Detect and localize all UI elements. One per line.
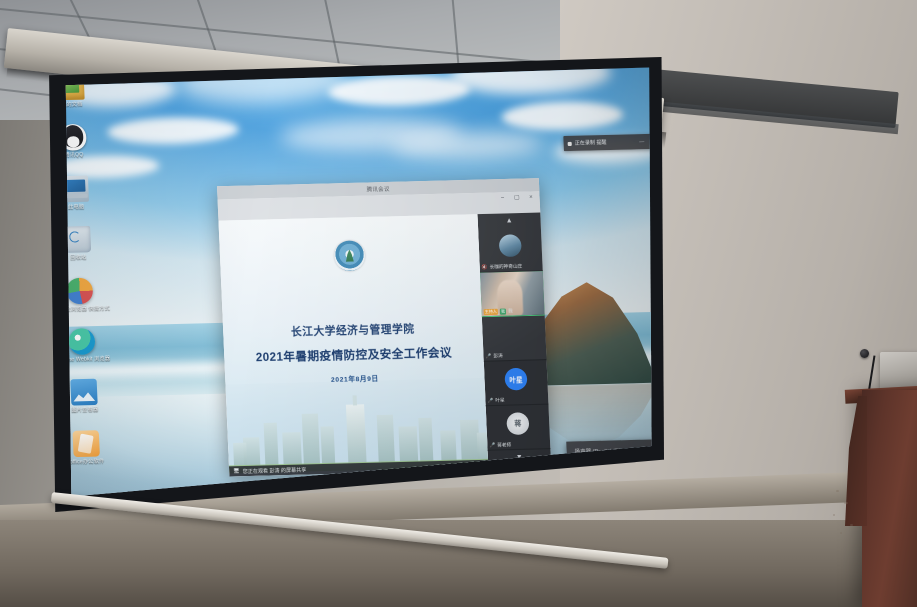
projection-screen: 我的文档 腾讯QQ 此电脑 回收站 <box>46 57 664 512</box>
projection-screen-surface: 我的文档 腾讯QQ 此电脑 回收站 <box>46 57 664 512</box>
cloud <box>107 116 240 146</box>
skyline-building <box>233 442 247 468</box>
windows-desktop: 我的文档 腾讯QQ 此电脑 回收站 <box>46 57 664 512</box>
tray-icon[interactable] <box>642 474 647 479</box>
maximize-button[interactable]: ▢ <box>513 195 520 202</box>
skyline-building <box>321 427 336 466</box>
host-badge: 主持人 <box>484 309 498 315</box>
participant-footer: 🎤 叶星 <box>485 396 548 404</box>
volume-value: 15 <box>662 462 664 469</box>
floor <box>0 520 917 607</box>
wall-mark <box>836 490 839 492</box>
screen-share-area: 长江大学经济与管理学院 2021年暑期疫情防控及安全工作会议 2021年8月9日… <box>218 214 488 476</box>
screen-share-icon: 🖥 <box>233 468 240 474</box>
pictures-icon <box>70 379 97 406</box>
gooseneck-microphone-icon <box>860 349 869 358</box>
close-button[interactable]: × <box>527 194 534 201</box>
notification-icon <box>568 141 572 145</box>
avatar: 叶星 <box>504 368 527 391</box>
tray-icon[interactable] <box>632 474 637 479</box>
skyline-building <box>282 432 302 466</box>
university-emblem-icon <box>334 240 366 271</box>
tray-icon[interactable] <box>612 475 617 480</box>
cloud <box>501 100 624 131</box>
avatar <box>499 234 522 257</box>
skyline-building <box>377 415 395 464</box>
wall-mark <box>844 502 848 504</box>
share-status-text: 您正在观看 彭涛 的屏幕共享 <box>243 466 307 475</box>
participant-tile-1[interactable]: 🔇 长咖的神奇山庄 <box>478 227 543 273</box>
podium <box>862 390 917 607</box>
avatar-initials: 叶星 <box>509 374 523 384</box>
skyline-building <box>398 426 418 464</box>
skyline-building <box>440 430 457 462</box>
participant-tile-4[interactable]: 叶星 🎤 叶星 <box>484 360 549 406</box>
tray-icon[interactable] <box>622 475 627 480</box>
conference-room-scene: 我的文档 腾讯QQ 此电脑 回收站 <box>0 0 917 607</box>
avatar-initials: 蒋 <box>514 418 522 428</box>
participant-name: 彭涛 <box>493 353 503 359</box>
cloud <box>175 57 349 105</box>
wall-mark <box>833 514 835 516</box>
meeting-body: 长江大学经济与管理学院 2021年暑期疫情防控及安全工作会议 2021年8月9日… <box>218 213 551 477</box>
browser-icon <box>68 328 95 355</box>
skyline-building <box>302 413 320 466</box>
participant-name: 我 <box>508 308 513 314</box>
window-title: 腾讯会议 <box>366 184 389 193</box>
participant-tile-2[interactable]: 主持人 我 我 <box>480 271 545 317</box>
system-tray-row <box>576 473 664 481</box>
wall-mark <box>840 532 842 534</box>
microphone-icon: 🎤 <box>485 353 491 359</box>
wall-mark <box>850 524 853 526</box>
wall-marks <box>830 480 870 540</box>
participants-panel: ▲ 🔇 长咖的神奇山庄 <box>478 213 552 470</box>
minimize-button[interactable]: − <box>499 195 506 202</box>
participant-name: 蒋老师 <box>497 442 511 448</box>
participant-name: 叶星 <box>495 398 505 404</box>
participant-tile-3[interactable]: 🎤 彭涛 <box>482 316 547 362</box>
microphone-icon: 🎤 <box>489 442 495 448</box>
multimedia-icon <box>66 277 93 304</box>
presentation-slide: 长江大学经济与管理学院 2021年暑期疫情防控及安全工作会议 2021年8月9日 <box>218 214 488 476</box>
skyline-building <box>263 423 278 467</box>
notification-title: 正在录制 提醒 <box>575 139 607 147</box>
participant-footer: 🔇 长咖的神奇山庄 <box>480 263 543 271</box>
volume-slider-fill <box>589 467 600 469</box>
skyline-building <box>419 417 434 463</box>
microphone-icon: 🎤 <box>487 398 493 404</box>
tray-icon[interactable] <box>602 475 607 480</box>
self-badge: 我 <box>500 309 506 315</box>
notification-toast[interactable]: 正在录制 提醒 — × <box>563 134 659 152</box>
volume-slider[interactable] <box>589 465 657 469</box>
editor-icon <box>72 430 99 457</box>
participant-tile-5[interactable]: 蒋 🎤 蒋老师 <box>486 405 551 451</box>
participant-name: 长咖的神奇山庄 <box>490 264 523 271</box>
microphone-icon: 🔇 <box>482 264 488 270</box>
participant-footer: 🎤 蒋老师 <box>487 441 550 449</box>
tencent-meeting-window[interactable]: 腾讯会议 − ▢ × <box>217 178 551 473</box>
avatar: 蒋 <box>506 412 529 435</box>
campus-main-tower <box>346 404 367 465</box>
